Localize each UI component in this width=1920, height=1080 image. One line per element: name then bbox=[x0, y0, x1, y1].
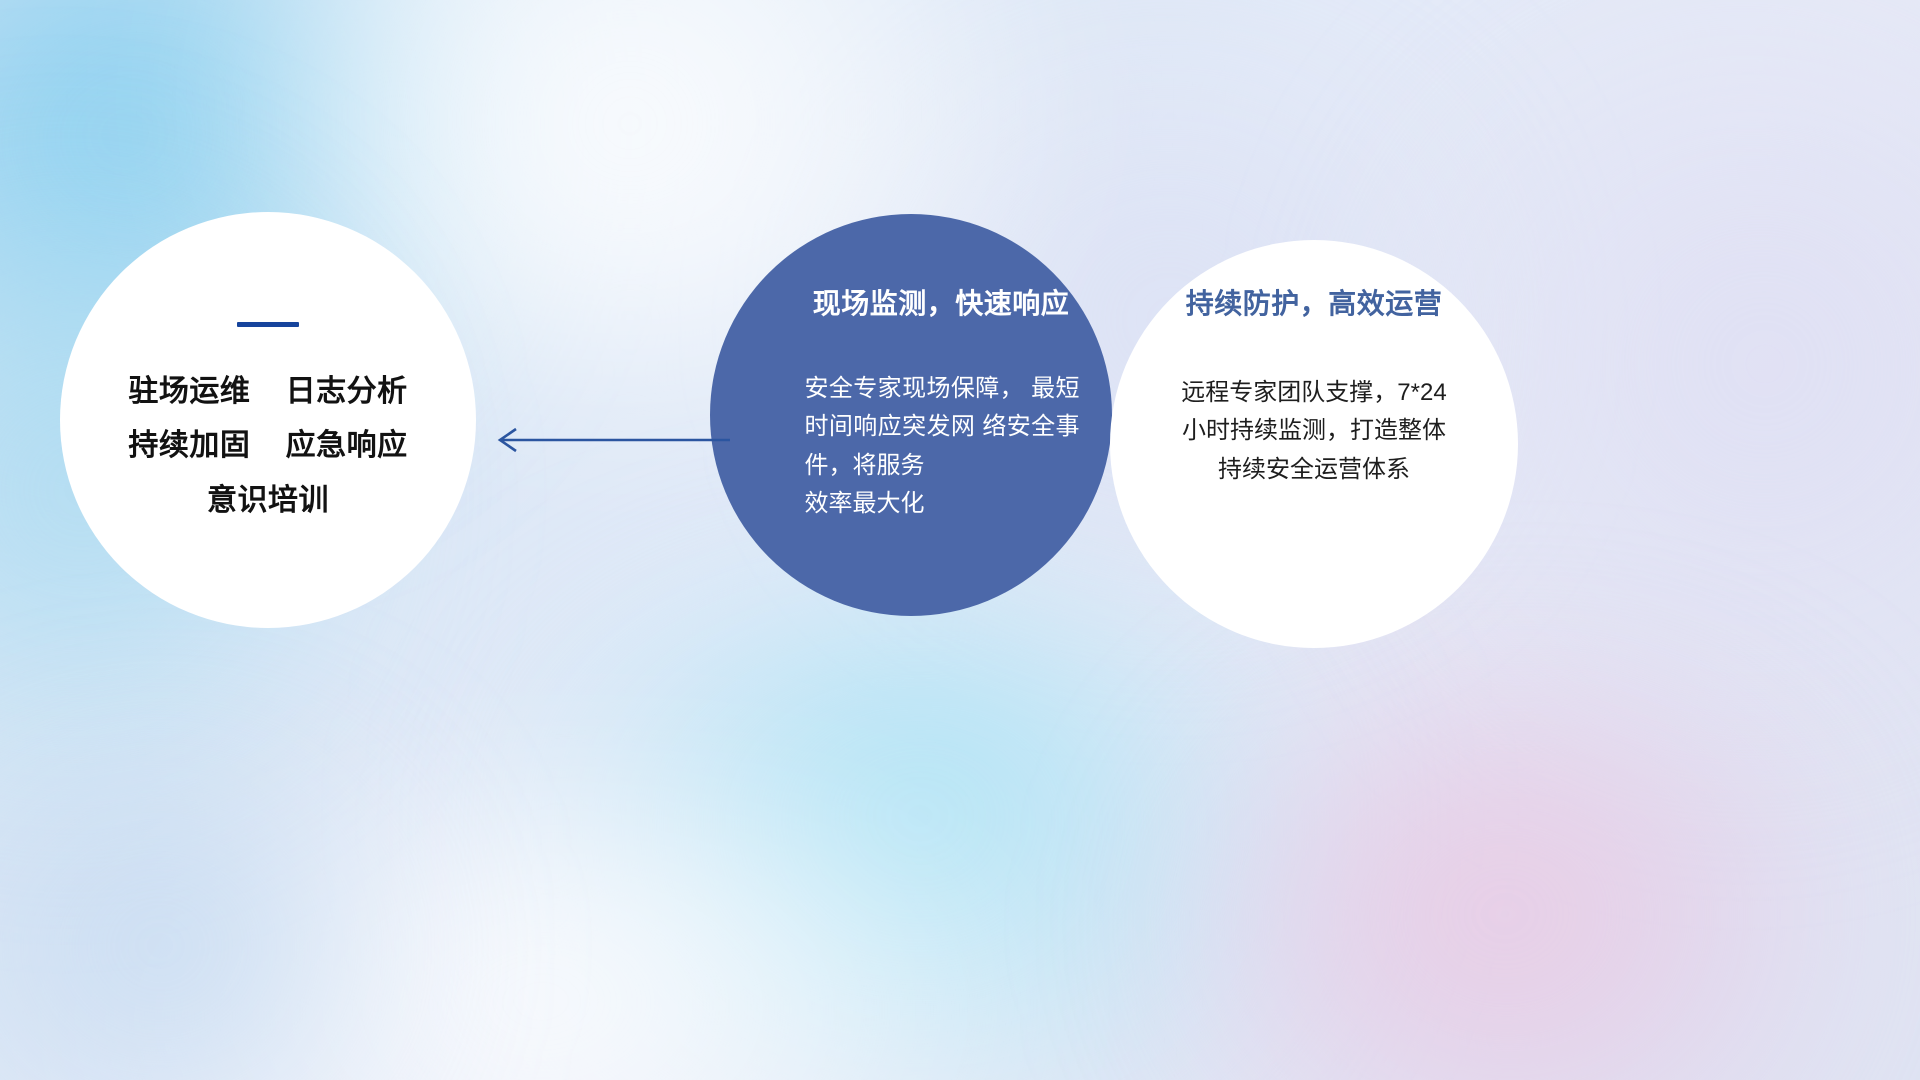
left-keyword-line: 驻场运维 日志分析 bbox=[128, 375, 407, 410]
middle-body-line: 安全专家现场保障， bbox=[805, 375, 1025, 402]
right-circle-body: 远程专家团队支撑，7*24 小时持续监测，打造整体 持续安全运营体系 bbox=[1144, 374, 1484, 489]
middle-body-line: 效率最大化 bbox=[805, 485, 1080, 523]
left-keyword-line: 意识培训 bbox=[207, 484, 329, 519]
right-body-line: 持续安全运营体系 bbox=[1144, 451, 1484, 489]
right-circle-title: 持续防护，高效运营 bbox=[1186, 282, 1443, 322]
left-keyword-line: 持续加固 应急响应 bbox=[128, 429, 407, 464]
slide-canvas: 现场监测，快速响应 安全专家现场保障， 最短时间响应突发网 络安全事件，将服务 … bbox=[0, 0, 1920, 1080]
right-circle-content: 持续防护，高效运营 远程专家团队支撑，7*24 小时持续监测，打造整体 持续安全… bbox=[1110, 240, 1518, 648]
middle-circle-body: 安全专家现场保障， 最短时间响应突发网 络安全事件，将服务 效率最大化 bbox=[805, 370, 1080, 524]
right-circle-card[interactable]: 持续防护，高效运营 远程专家团队支撑，7*24 小时持续监测，打造整体 持续安全… bbox=[1110, 240, 1518, 648]
right-body-line: 远程专家团队支撑，7*24 bbox=[1144, 374, 1484, 412]
left-circle-card[interactable]: 驻场运维 日志分析 持续加固 应急响应 意识培训 bbox=[60, 212, 476, 628]
middle-circle-title: 现场监测，快速响应 bbox=[813, 282, 1070, 322]
left-pointing-arrow-icon bbox=[480, 424, 730, 456]
middle-circle-card[interactable]: 现场监测，快速响应 安全专家现场保障， 最短时间响应突发网 络安全事件，将服务 … bbox=[710, 214, 1112, 616]
middle-circle-content: 现场监测，快速响应 安全专家现场保障， 最短时间响应突发网 络安全事件，将服务 … bbox=[710, 214, 1112, 616]
right-body-line: 小时持续监测，打造整体 bbox=[1144, 412, 1484, 450]
left-circle-content: 驻场运维 日志分析 持续加固 应急响应 意识培训 bbox=[60, 212, 476, 628]
dash-divider-icon bbox=[237, 322, 299, 327]
left-circle-keyword-list: 驻场运维 日志分析 持续加固 应急响应 意识培训 bbox=[128, 375, 407, 519]
